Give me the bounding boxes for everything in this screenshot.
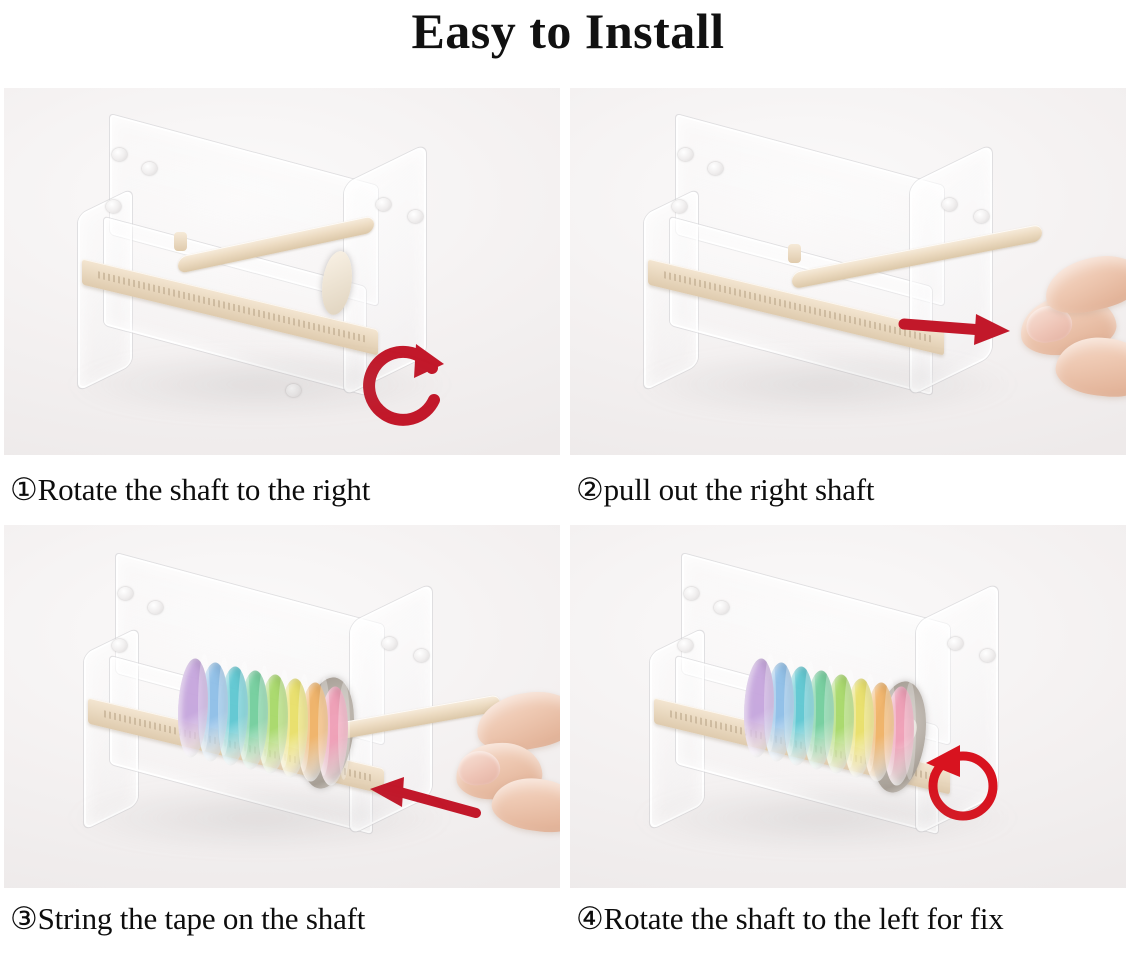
step-3-photo	[4, 525, 560, 888]
screw-nub	[148, 601, 163, 614]
rotate-counterclockwise-arrow-icon	[916, 739, 1006, 829]
screw-nub	[678, 148, 693, 161]
screw-nub	[142, 162, 157, 175]
screw-nub	[708, 162, 723, 175]
tape-dispenser	[642, 144, 1012, 412]
acrylic-right-panel	[344, 144, 426, 396]
screw-nub	[684, 587, 699, 600]
hand	[452, 693, 560, 843]
install-steps-grid: ①Rotate the shaft to the right	[0, 88, 1136, 950]
step-1-photo	[4, 88, 560, 455]
shaft-end-cap	[174, 232, 187, 251]
screw-nub	[974, 210, 989, 223]
screw-nub	[948, 637, 963, 650]
shaft-end-cap	[788, 244, 801, 263]
tape-dispenser	[82, 583, 454, 845]
screw-nub	[714, 601, 729, 614]
pull-right-arrow-icon	[900, 306, 1020, 346]
screw-nub	[118, 587, 133, 600]
step-3: ③String the tape on the shaft	[4, 525, 560, 950]
screw-nub	[112, 639, 127, 652]
washi-tape-roll-face	[338, 679, 350, 783]
tape-dispenser	[648, 583, 1020, 845]
product-photo-scene	[570, 88, 1126, 455]
page-header: Easy to Install	[0, 0, 1136, 88]
hand	[1010, 256, 1126, 406]
rotate-clockwise-arrow-icon	[354, 338, 454, 434]
step-2-photo	[570, 88, 1126, 455]
step-4-caption: ④Rotate the shaft to the left for fix	[570, 888, 1126, 950]
steps-row-1: ①Rotate the shaft to the right	[0, 88, 1136, 525]
acrylic-right-panel	[910, 144, 992, 396]
screw-nub	[106, 200, 121, 213]
page-title: Easy to Install	[411, 2, 724, 60]
step-4: ④Rotate the shaft to the left for fix	[570, 525, 1126, 950]
screw-nub	[672, 200, 687, 213]
product-photo-scene	[4, 88, 560, 455]
step-2: ②pull out the right shaft	[570, 88, 1126, 525]
screw-nub	[382, 637, 397, 650]
screw-nub	[286, 384, 301, 397]
washi-tape-roll	[744, 652, 774, 765]
step-1: ①Rotate the shaft to the right	[4, 88, 560, 525]
step-4-photo	[570, 525, 1126, 888]
product-photo-scene	[4, 525, 560, 888]
screw-nub	[678, 639, 693, 652]
tape-dispenser	[76, 144, 446, 412]
step-1-caption: ①Rotate the shaft to the right	[4, 455, 560, 525]
step-2-caption: ②pull out the right shaft	[570, 455, 1126, 525]
screw-nub	[408, 210, 423, 223]
washi-tape-roll	[178, 652, 208, 765]
screw-nub	[376, 198, 391, 211]
step-3-caption: ③String the tape on the shaft	[4, 888, 560, 950]
screw-nub	[112, 148, 127, 161]
product-photo-scene	[570, 525, 1126, 888]
steps-row-2: ③String the tape on the shaft	[0, 525, 1136, 950]
screw-nub	[942, 198, 957, 211]
